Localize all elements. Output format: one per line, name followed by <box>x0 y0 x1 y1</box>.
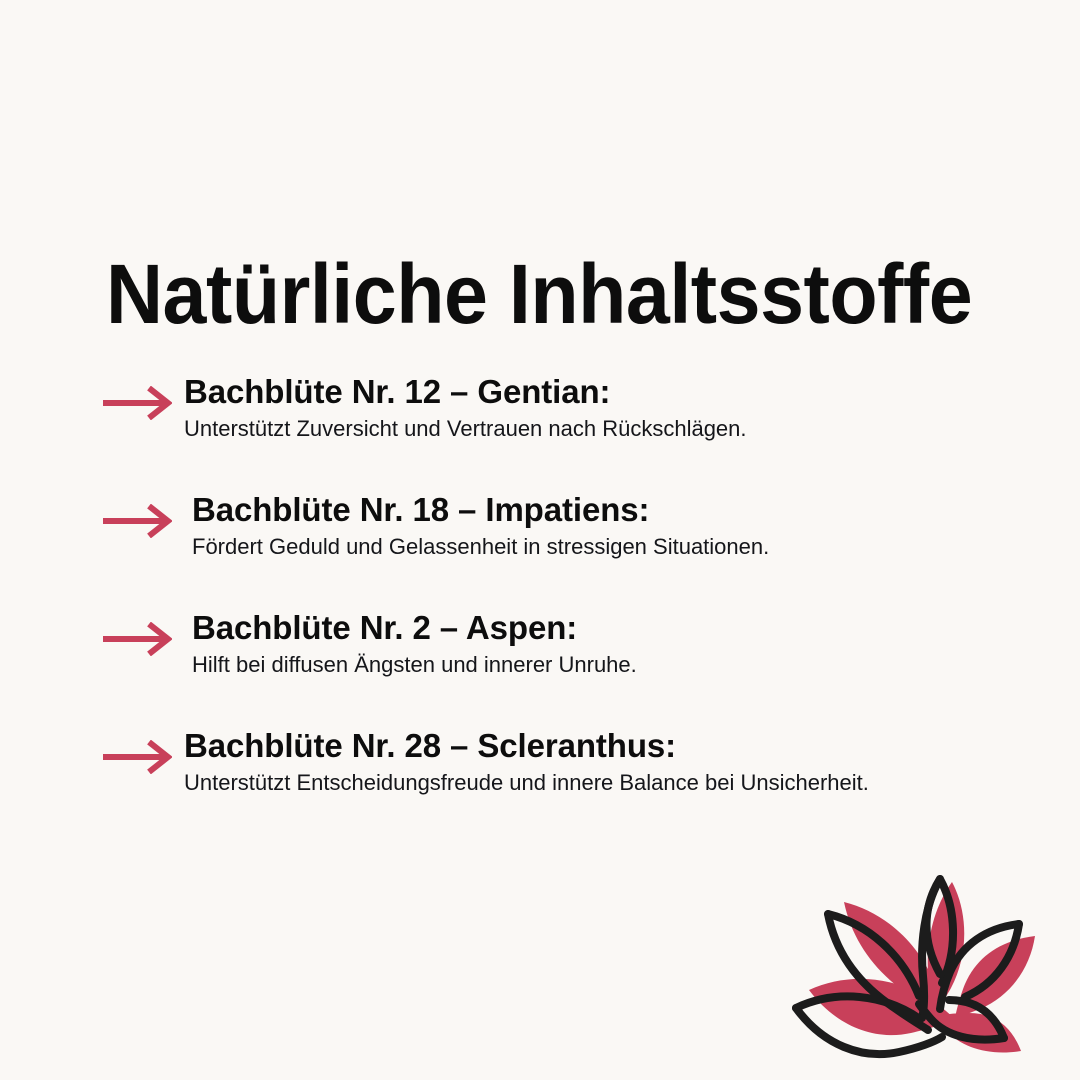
arrow-right-icon <box>102 504 172 538</box>
arrow-right-icon <box>102 622 172 656</box>
list-item-subtitle: Fördert Geduld und Gelassenheit in stres… <box>192 530 1040 562</box>
arrow-right-icon <box>102 740 172 774</box>
list-item-text-block: Bachblüte Nr. 18 – Impatiens: Fördert Ge… <box>192 490 1040 562</box>
list-item-text-block: Bachblüte Nr. 28 – Scleranthus: Unterstü… <box>184 726 1040 798</box>
list-item: Bachblüte Nr. 2 – Aspen: Hilft bei diffu… <box>0 608 1080 726</box>
poster-canvas: Natürliche Inhaltsstoffe Bachblüte Nr. 1… <box>0 0 1080 1080</box>
arrow-right-icon <box>102 386 172 420</box>
list-item-subtitle: Hilft bei diffusen Ängsten und innerer U… <box>192 648 1040 680</box>
list-item-heading: Bachblüte Nr. 28 – Scleranthus: <box>184 726 1040 766</box>
list-item: Bachblüte Nr. 18 – Impatiens: Fördert Ge… <box>0 490 1080 608</box>
list-item-heading: Bachblüte Nr. 2 – Aspen: <box>192 608 1040 648</box>
page-title: Natürliche Inhaltsstoffe <box>106 252 933 336</box>
list-item: Bachblüte Nr. 12 – Gentian: Unterstützt … <box>0 372 1080 490</box>
lotus-flower-logo <box>792 868 1048 1070</box>
list-item-text-block: Bachblüte Nr. 12 – Gentian: Unterstützt … <box>184 372 1040 444</box>
list-item-text-block: Bachblüte Nr. 2 – Aspen: Hilft bei diffu… <box>192 608 1040 680</box>
list-item-subtitle: Unterstützt Entscheidungsfreude und inne… <box>184 766 1040 798</box>
list-item: Bachblüte Nr. 28 – Scleranthus: Unterstü… <box>0 726 1080 844</box>
list-item-subtitle: Unterstützt Zuversicht und Vertrauen nac… <box>184 412 1040 444</box>
list-item-heading: Bachblüte Nr. 12 – Gentian: <box>184 372 1040 412</box>
ingredient-list: Bachblüte Nr. 12 – Gentian: Unterstützt … <box>0 372 1080 844</box>
list-item-heading: Bachblüte Nr. 18 – Impatiens: <box>192 490 1040 530</box>
